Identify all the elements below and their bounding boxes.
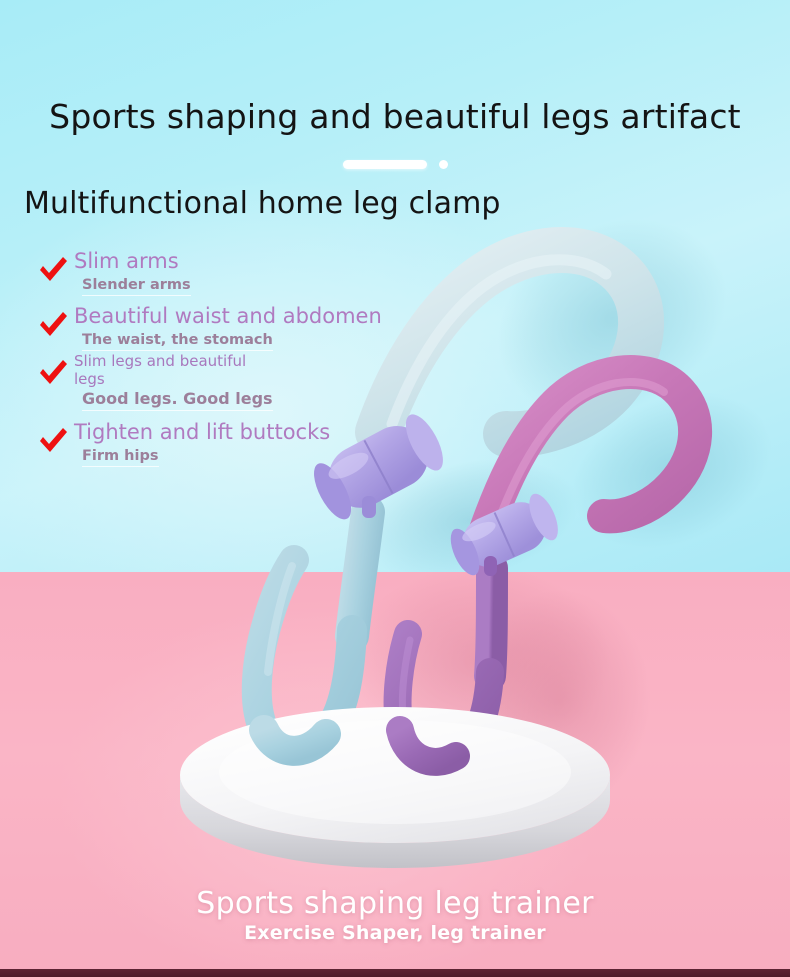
bottom-strip — [0, 969, 790, 977]
check-icon — [38, 427, 68, 455]
feature-list: Slim arms Slender arms Beautiful waist a… — [38, 250, 458, 474]
feature-item-slim-legs: Slim legs and beautiful legs Good legs. … — [38, 353, 458, 411]
feature-title: Slim legs and beautiful legs — [74, 353, 274, 388]
check-icon — [38, 256, 68, 284]
feature-item-slim-arms: Slim arms Slender arms — [38, 250, 458, 296]
page-title: Sports shaping and beautiful legs artifa… — [0, 97, 790, 136]
feature-title: Slim arms — [74, 250, 458, 274]
feature-title: Beautiful waist and abdomen — [74, 305, 458, 329]
check-icon — [38, 359, 68, 387]
feature-subtitle: Firm hips — [82, 448, 159, 468]
feature-item-waist-abdomen: Beautiful waist and abdomen The waist, t… — [38, 305, 458, 351]
divider — [0, 158, 790, 170]
feature-subtitle: The waist, the stomach — [82, 332, 273, 352]
caption-sub: Exercise Shaper, leg trainer — [0, 922, 790, 944]
feature-subtitle: Good legs. Good legs — [82, 390, 273, 411]
divider-dot — [439, 160, 448, 169]
check-icon — [38, 311, 68, 339]
caption-main: Sports shaping leg trainer — [0, 886, 790, 921]
product-poster: Sports shaping and beautiful legs artifa… — [0, 0, 790, 977]
divider-bar — [343, 160, 427, 169]
feature-item-buttocks: Tighten and lift buttocks Firm hips — [38, 421, 458, 467]
feature-title: Tighten and lift buttocks — [74, 421, 458, 445]
feature-subtitle: Slender arms — [82, 277, 191, 297]
page-subtitle: Multifunctional home leg clamp — [24, 186, 764, 221]
